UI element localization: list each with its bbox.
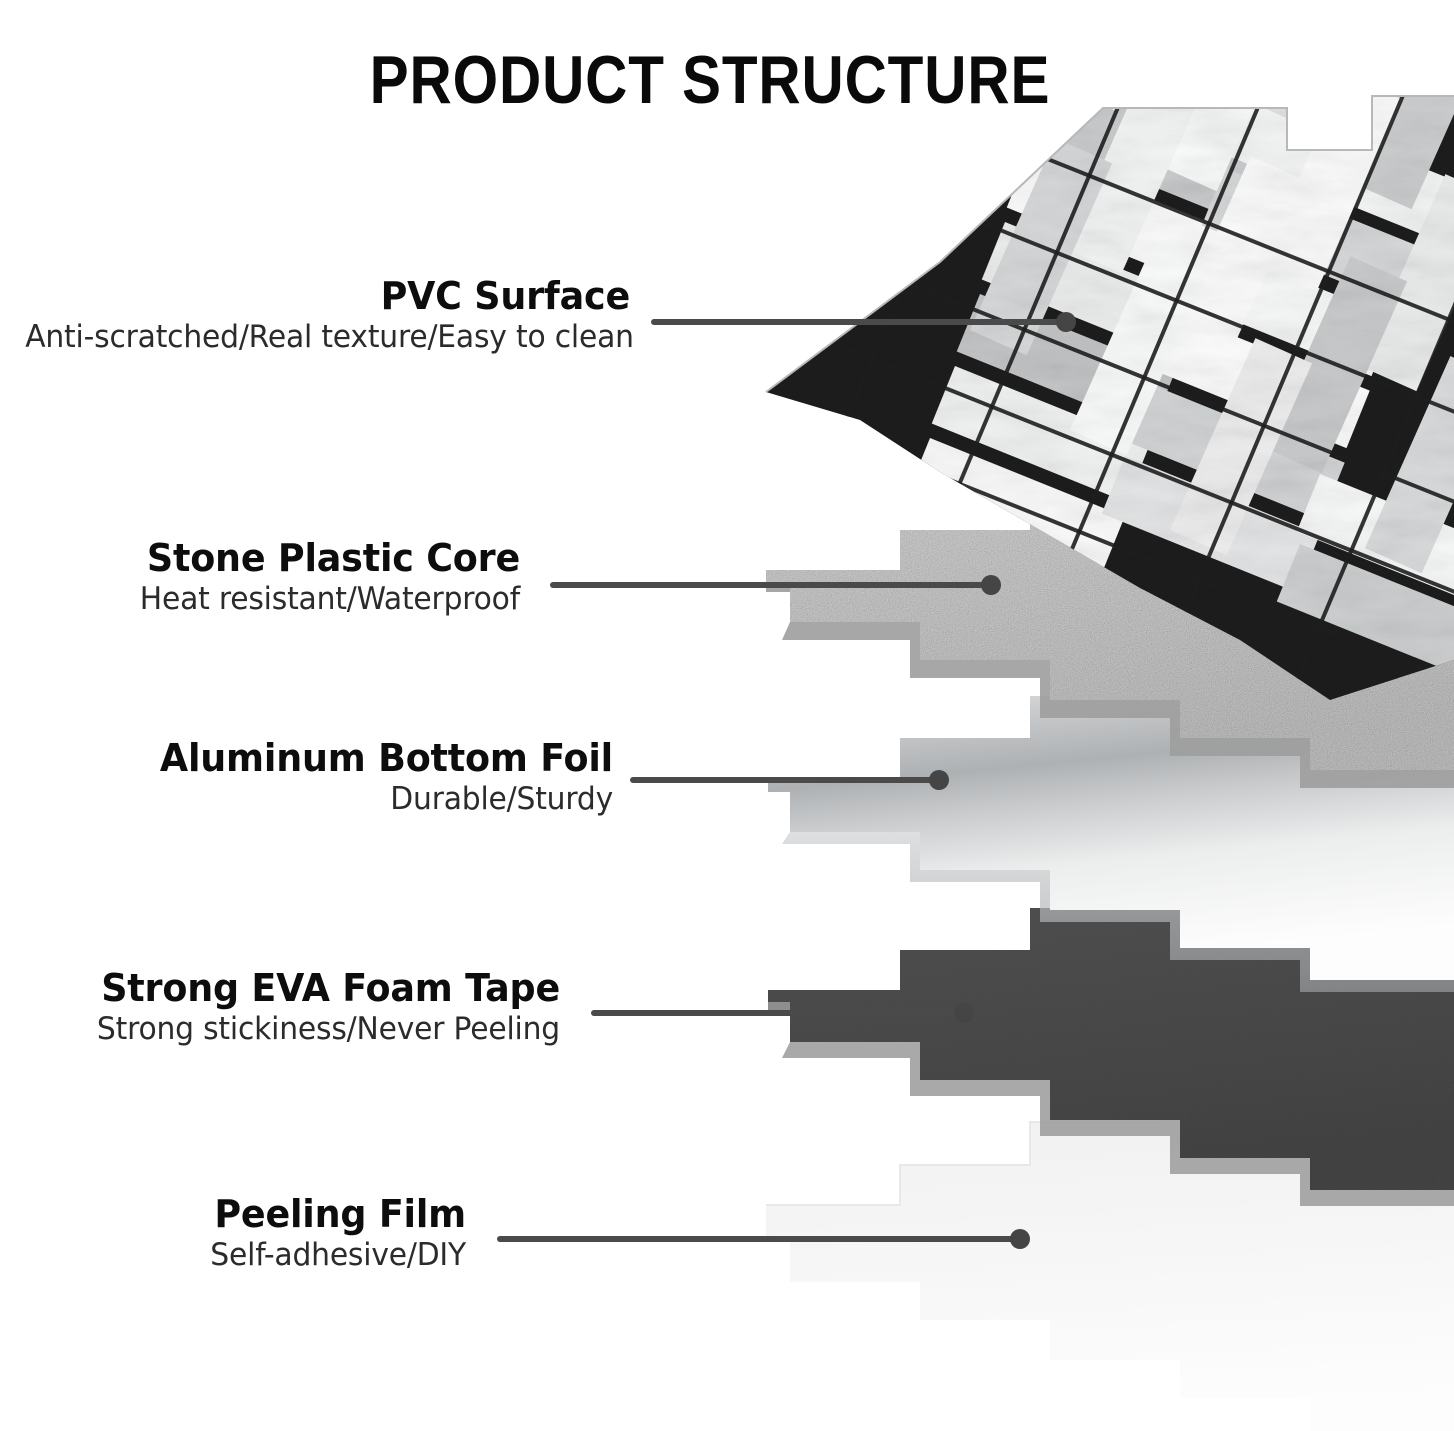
product-structure-infographic: PRODUCT STRUCTURE (0, 0, 1454, 1431)
leader-line-eva (594, 1003, 974, 1023)
layer-aluminum-bottom-foil (768, 612, 1454, 992)
callout-peeling-film: Peeling Film Self-adhesive/DIY (0, 1193, 466, 1272)
callout-subtitle-pvc: Anti-scratched/Real texture/Easy to clea… (25, 320, 630, 355)
callout-strong-eva-foam-tape: Strong EVA Foam Tape Strong stickiness/N… (0, 967, 560, 1046)
leader-line-film (500, 1229, 1030, 1249)
leader-dot-pvc (1056, 312, 1076, 332)
callout-title-foil: Aluminum Bottom Foil (25, 737, 613, 780)
layer-peeling-film (766, 1038, 1454, 1431)
leader-dot-eva (954, 1003, 974, 1023)
callout-title-pvc: PVC Surface (25, 275, 630, 318)
leader-dot-core (981, 575, 1001, 595)
layer-eva-foam-tape (768, 824, 1454, 1206)
callout-stone-plastic-core: Stone Plastic Core Heat resistant/Waterp… (0, 537, 520, 616)
layer-stone-plastic-core (766, 404, 1454, 788)
callout-title-eva: Strong EVA Foam Tape (22, 967, 560, 1010)
leader-line-foil (633, 770, 949, 790)
callout-subtitle-film: Self-adhesive/DIY (19, 1238, 466, 1273)
callout-title-core: Stone Plastic Core (21, 537, 520, 580)
leader-dot-foil (929, 770, 949, 790)
leader-line-pvc (654, 312, 1076, 332)
callout-subtitle-foil: Durable/Sturdy (25, 782, 613, 817)
leader-line-core (553, 575, 1001, 595)
leader-dot-film (1010, 1229, 1030, 1249)
callout-title-film: Peeling Film (19, 1193, 466, 1236)
callout-subtitle-core: Heat resistant/Waterproof (21, 582, 520, 617)
callout-pvc-surface: PVC Surface Anti-scratched/Real texture/… (0, 275, 630, 354)
page-title: PRODUCT STRUCTURE (99, 46, 1320, 115)
callout-subtitle-eva: Strong stickiness/Never Peeling (22, 1012, 560, 1047)
callout-aluminum-bottom-foil: Aluminum Bottom Foil Durable/Sturdy (0, 737, 613, 816)
